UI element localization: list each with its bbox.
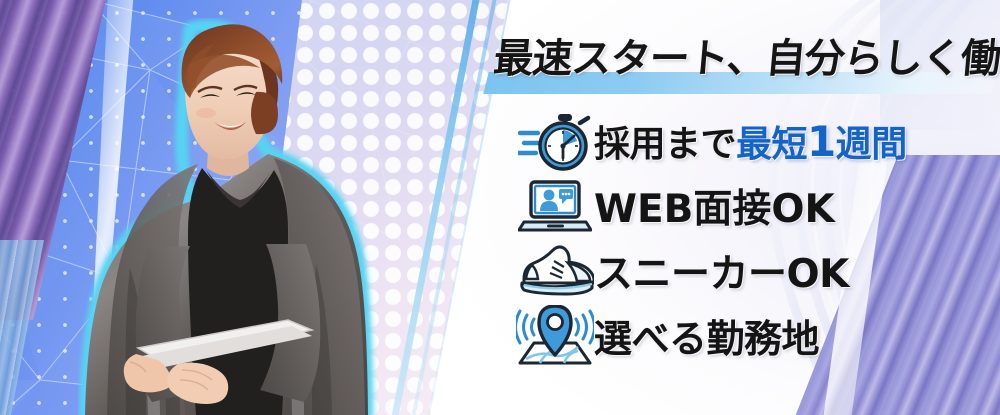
feature-text-highlight-2: 週間 [836, 124, 907, 165]
feature-text-number: 1 [807, 117, 836, 166]
feature-row-sneaker: スニーカーOK [516, 238, 996, 303]
feature-text-work-location: 選べる勤務地 [594, 308, 819, 363]
businesswoman-photo [78, 18, 378, 415]
stopwatch-crown [558, 114, 572, 121]
feature-text-plain: 採用まで [594, 124, 736, 165]
avatar-head [544, 189, 555, 200]
recruitment-banner: 最速スタート、自分らしく働く [0, 0, 1000, 415]
feature-text-highlight-1: 最短 [736, 124, 807, 165]
signal-waves-right [576, 311, 594, 343]
feature-text-sneaker: スニーカーOK [594, 243, 849, 299]
headline-block: 最速スタート、自分らしく働く [486, 26, 996, 98]
signal-waves-left [516, 311, 534, 343]
feature-row-web-interview: WEB面接OK [516, 173, 996, 238]
feature-text-web-interview: WEB面接OK [594, 178, 835, 234]
feature-text-hiring-speed: 採用まで最短1週間 [594, 115, 907, 167]
feature-row-hiring-speed: 採用まで最短1週間 [516, 108, 996, 173]
feature-row-work-location: 選べる勤務地 [516, 303, 996, 368]
stopwatch-lever [580, 118, 588, 123]
map-pin-signal-icon [516, 305, 594, 367]
laptop-video-call-icon [516, 175, 594, 237]
page-title: 最速スタート、自分らしく働く [491, 26, 1000, 84]
stopwatch-icon [516, 110, 594, 172]
speed-lines [518, 133, 540, 153]
sneaker-icon [516, 240, 594, 302]
feature-list: 採用まで最短1週間 WEB面接OK [516, 108, 996, 368]
